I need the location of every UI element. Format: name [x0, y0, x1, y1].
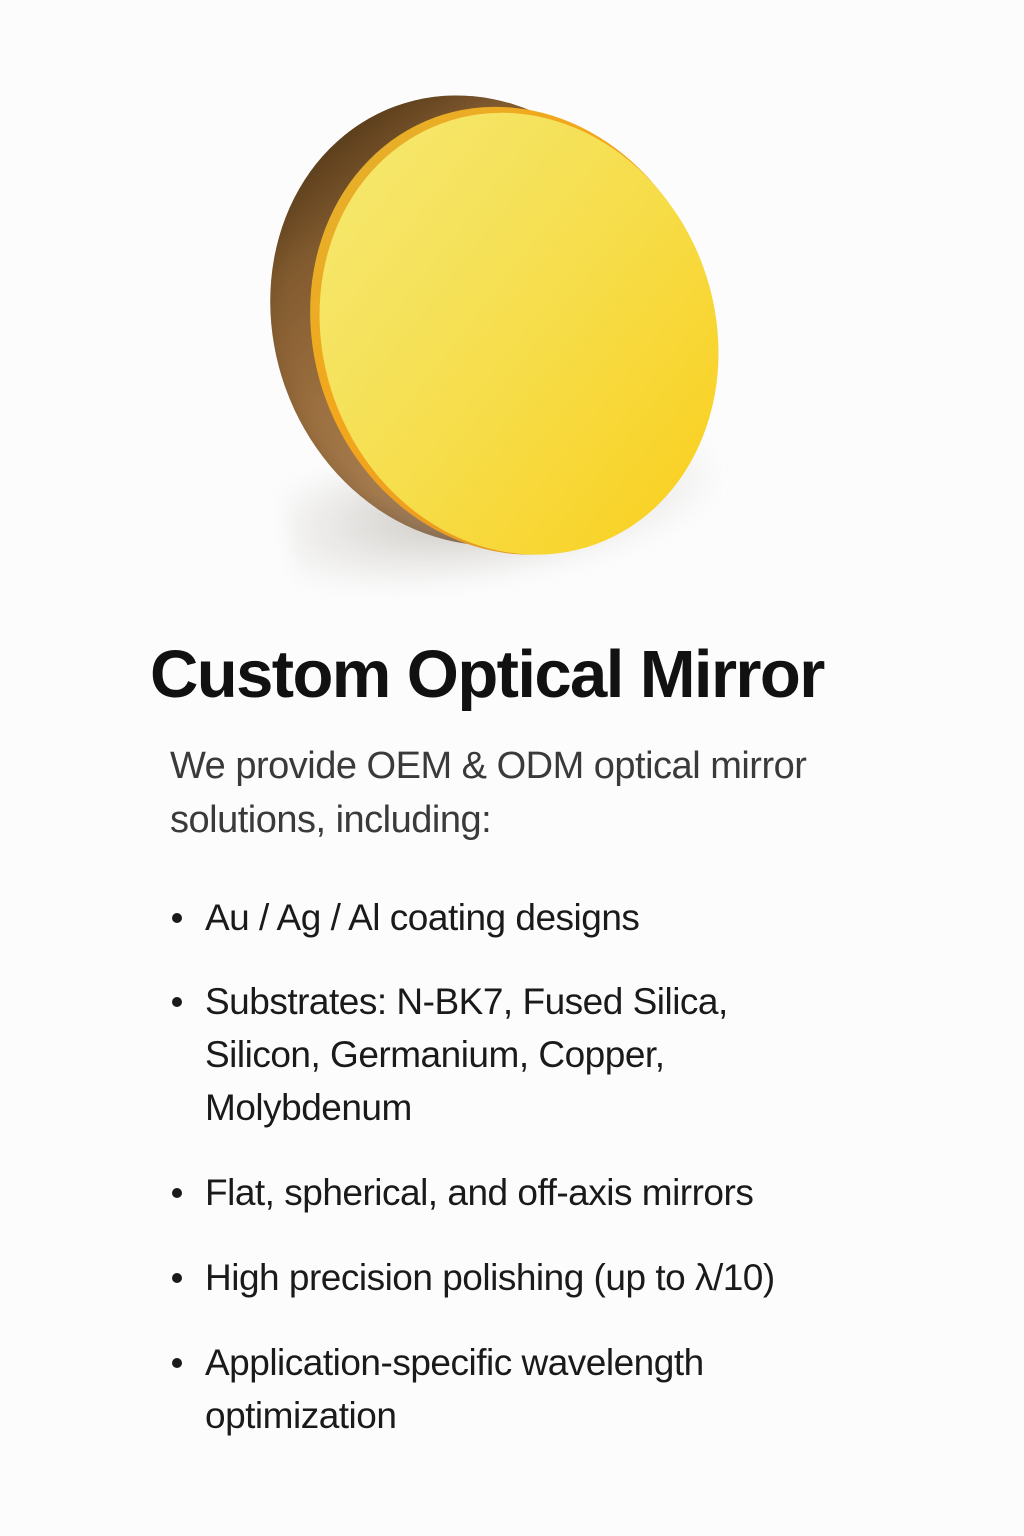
list-item: High precision polishing (up to λ/10) [0, 1252, 825, 1305]
list-item: Flat, spherical, and off-axis mirrors [0, 1167, 825, 1220]
bullet-icon [172, 1273, 182, 1283]
list-item: Au / Ag / Al coating designs [0, 892, 825, 945]
feature-list: Au / Ag / Al coating designs Substrates:… [0, 848, 1024, 1443]
hero-product-image [0, 0, 1024, 640]
optical-mirror-disc [179, 0, 845, 665]
bullet-icon [172, 1358, 182, 1368]
intro-paragraph: We provide OEM & ODM optical mirror solu… [0, 710, 830, 848]
text-content: Custom Optical Mirror We provide OEM & O… [0, 640, 1024, 1443]
page-title: Custom Optical Mirror [0, 640, 1024, 710]
list-item-label: Substrates: N-BK7, Fused Silica, Silicon… [205, 981, 728, 1128]
mirror-stage [252, 72, 772, 592]
list-item: Application-specific wavelength optimiza… [0, 1337, 825, 1443]
mirror-right-edge-line [258, 56, 780, 611]
bullet-icon [172, 913, 182, 923]
list-item-label: High precision polishing (up to λ/10) [205, 1257, 775, 1298]
bullet-icon [172, 1188, 182, 1198]
list-item-label: Flat, spherical, and off-axis mirrors [205, 1172, 753, 1213]
list-item: Substrates: N-BK7, Fused Silica, Silicon… [0, 976, 825, 1135]
bullet-icon [172, 997, 182, 1007]
list-item-label: Application-specific wavelength optimiza… [205, 1342, 704, 1436]
list-item-label: Au / Ag / Al coating designs [205, 897, 639, 938]
